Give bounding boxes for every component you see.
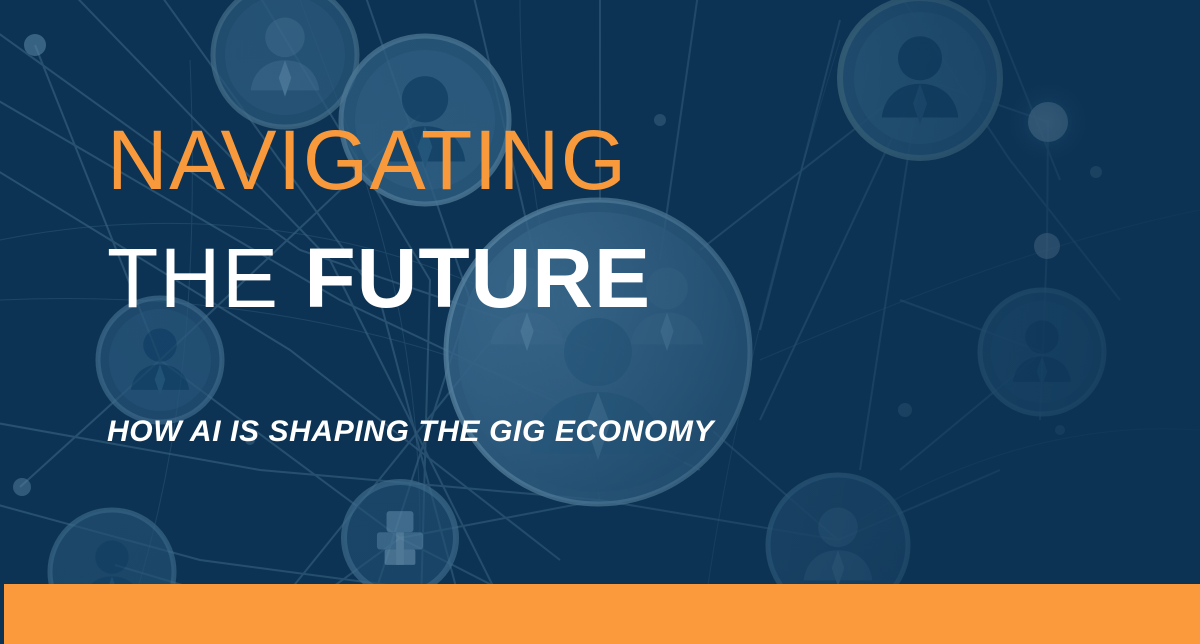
page-title-future: FUTURE [304, 231, 651, 325]
page-subtitle: HOW AI IS SHAPING THE GIG ECONOMY [107, 417, 714, 447]
page-title-the: THE [107, 231, 304, 325]
headline-block: NAVIGATING THE FUTURE HOW AI IS SHAPING … [107, 0, 927, 580]
page-title-line-2: THE FUTURE [107, 236, 651, 320]
page-title-line-1: NAVIGATING [107, 118, 628, 202]
avatar-node-mid-right [980, 290, 1104, 414]
bottom-accent-bar [4, 584, 1200, 644]
title-slide: NAVIGATING THE FUTURE HOW AI IS SHAPING … [0, 0, 1200, 644]
